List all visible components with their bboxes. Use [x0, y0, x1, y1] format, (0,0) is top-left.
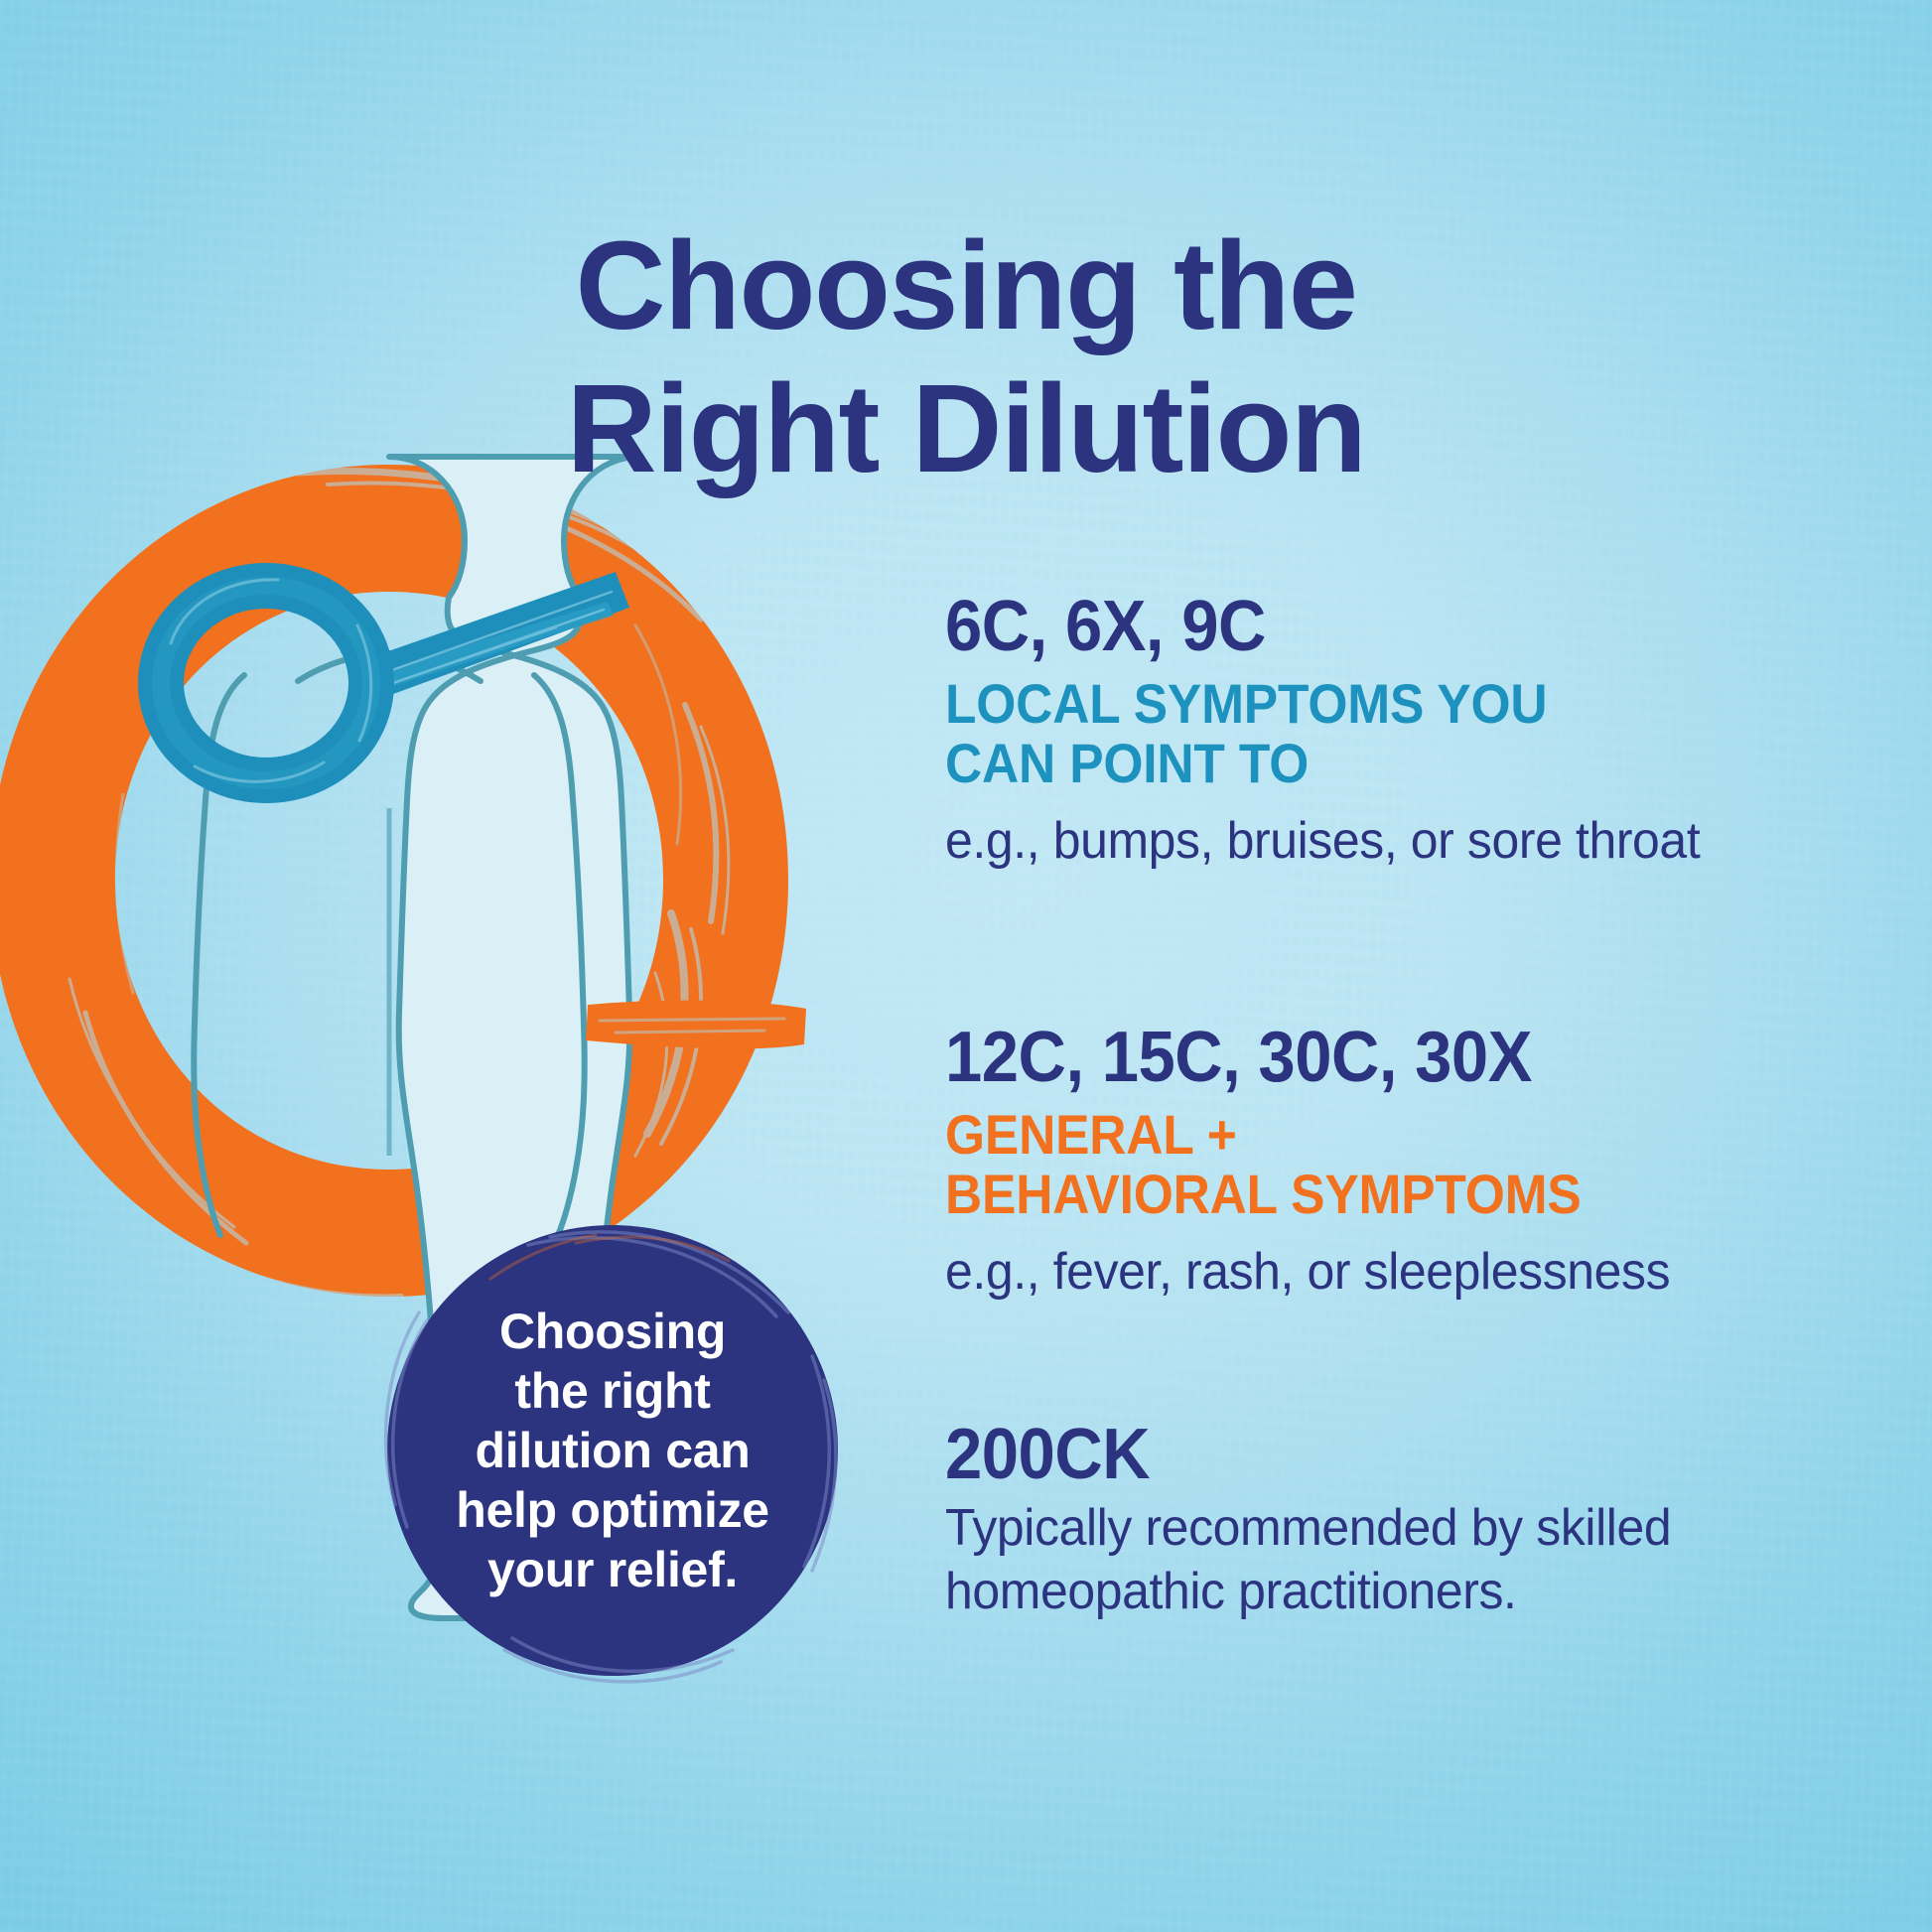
badge-text: Choosing the right dilution can help opt…: [379, 1217, 846, 1684]
highlight-badge: Choosing the right dilution can help opt…: [379, 1217, 846, 1684]
dilution-1-subtitle: LOCAL SYMPTOMS YOU CAN POINT TO: [945, 674, 1785, 794]
page-title: Choosing the Right Dilution: [0, 214, 1932, 499]
dilution-1-label: 6C, 6X, 9C: [945, 590, 1795, 664]
dilution-2-label: 12C, 15C, 30C, 30X: [945, 1021, 1795, 1095]
dilution-block-2: 12C, 15C, 30C, 30X GENERAL + BEHAVIORAL …: [945, 1021, 1859, 1304]
dilution-2-subtitle: GENERAL + BEHAVIORAL SYMPTOMS: [945, 1105, 1785, 1225]
dilution-3-label: 200CK: [945, 1418, 1795, 1492]
dilution-1-description: e.g., bumps, bruises, or sore throat: [945, 810, 1822, 873]
dilution-2-description: e.g., fever, rash, or sleeplessness: [945, 1241, 1822, 1304]
infographic-canvas: Choosing the Right Dilution: [0, 0, 1932, 1932]
illustration-artwork: [0, 377, 953, 1926]
dilution-block-3: 200CK Typically recommended by skilled h…: [945, 1418, 1859, 1624]
dilution-block-1: 6C, 6X, 9C LOCAL SYMPTOMS YOU CAN POINT …: [945, 590, 1859, 873]
orange-connector-stroke: [586, 1001, 806, 1049]
dilution-3-description: Typically recommended by skilled homeopa…: [945, 1496, 1822, 1624]
